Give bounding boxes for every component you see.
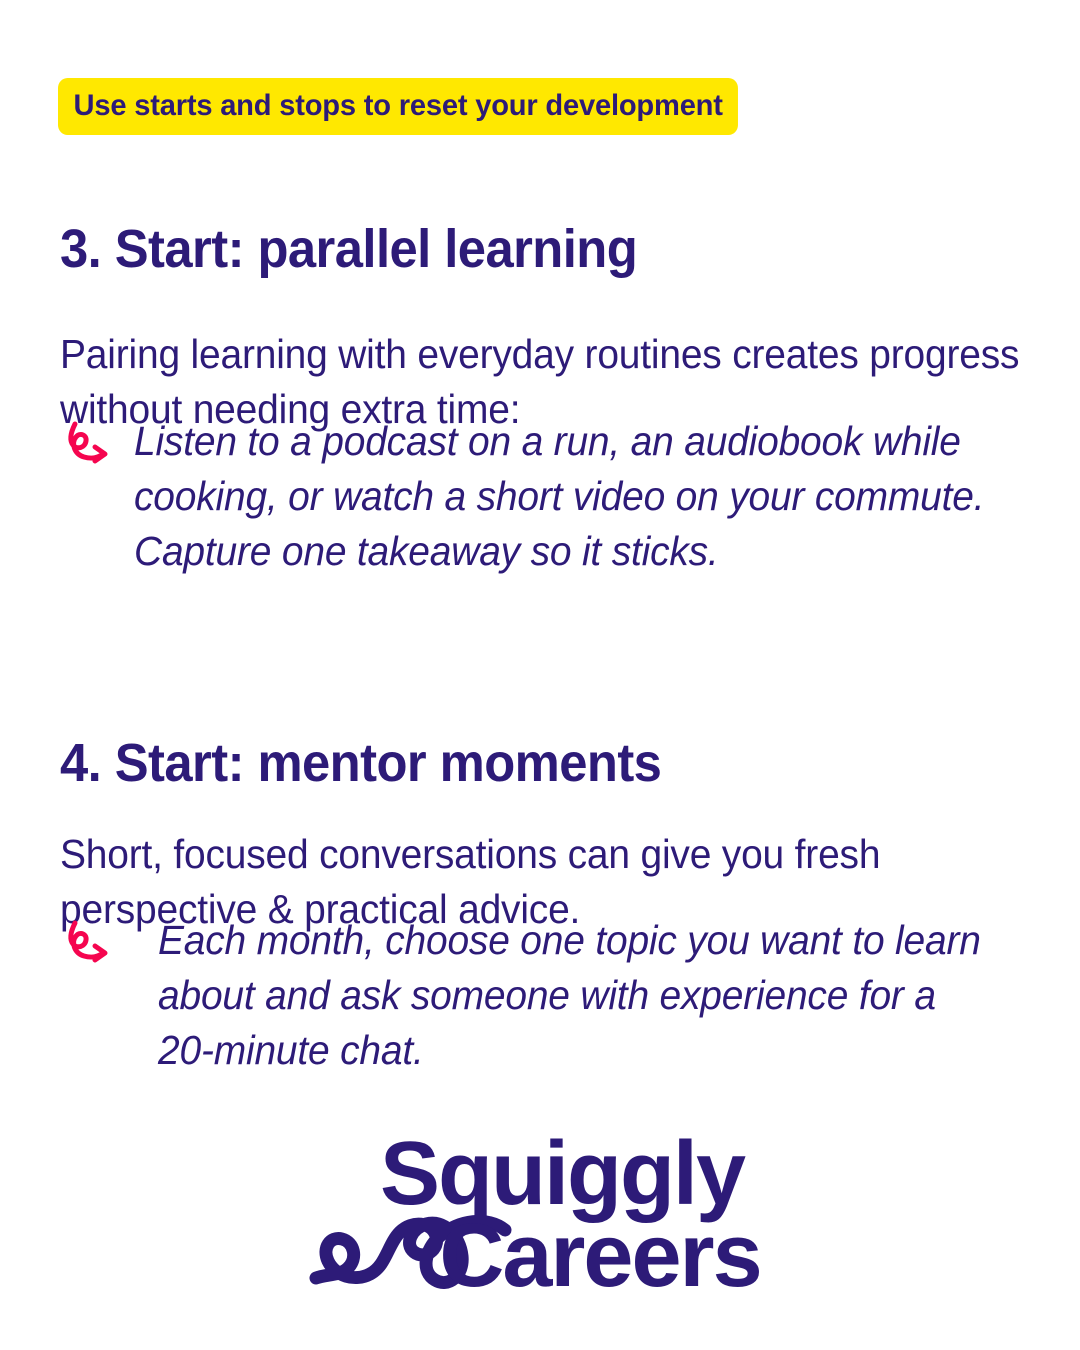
kicker-highlight: Use starts and stops to reset your devel… <box>58 78 738 135</box>
bullet-item: Listen to a podcast on a run, an audiobo… <box>62 414 1032 579</box>
section-heading-mentor-moments: 4. Start: mentor moments <box>60 735 962 792</box>
squiggly-careers-logotype: Squiggly Careers <box>300 1118 780 1318</box>
section-heading-parallel-learning: 3. Start: parallel learning <box>60 221 962 278</box>
brand-logo: Squiggly Careers <box>0 1118 1080 1318</box>
squiggle-arrow-icon <box>62 420 114 472</box>
bullet-item: Each month, choose one topic you want to… <box>62 913 1032 1078</box>
logo-word-careers: Careers <box>439 1206 760 1306</box>
bullet-text: Listen to a podcast on a run, an audiobo… <box>134 414 987 579</box>
squiggle-arrow-icon <box>62 919 114 971</box>
bullet-text: Each month, choose one topic you want to… <box>158 913 988 1078</box>
kicker-row: Use starts and stops to reset your devel… <box>58 78 1020 135</box>
slide-canvas: Use starts and stops to reset your devel… <box>0 0 1080 1350</box>
